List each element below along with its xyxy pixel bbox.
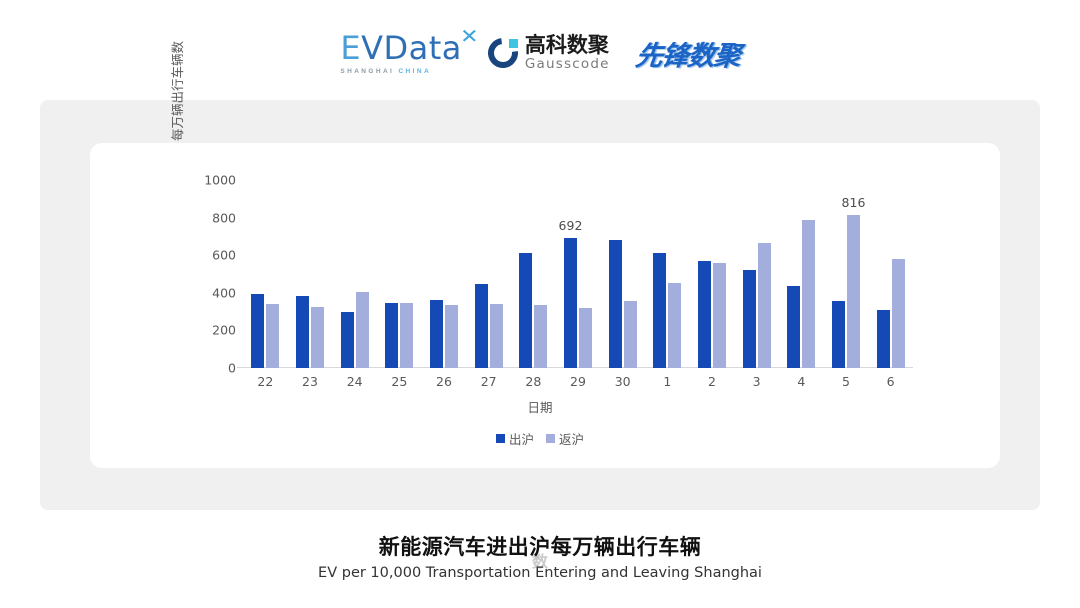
legend-label: 出沪 — [509, 429, 534, 448]
bar-出沪-24[interactable] — [341, 312, 354, 368]
y-axis-title: 每万辆出行车辆数 — [168, 0, 184, 183]
y-axis-ticks: 10008006004002000 — [190, 0, 236, 608]
bar-group — [288, 180, 333, 368]
x-axis-tick-label: 30 — [615, 374, 631, 389]
bar-出沪-2[interactable] — [698, 261, 711, 368]
bar-group — [377, 180, 422, 368]
x-axis-tick-label: 6 — [887, 374, 895, 389]
bar-返沪-26[interactable] — [445, 305, 458, 368]
bar-返沪-27[interactable] — [490, 304, 503, 368]
y-axis-tick-label: 1000 — [190, 173, 236, 188]
bar-group — [779, 180, 824, 368]
legend-swatch-icon — [546, 434, 555, 443]
x-axis-tick-label: 3 — [753, 374, 761, 389]
bar-出沪-3[interactable] — [743, 270, 756, 368]
caption-title-cn: 新能源汽车进出沪每万辆出行车辆 — [0, 531, 1080, 561]
bar-返沪-2[interactable] — [713, 263, 726, 368]
bar-group — [511, 180, 556, 368]
bar-出沪-1[interactable] — [653, 253, 666, 368]
y-axis-tick-label: 400 — [190, 285, 236, 300]
caption-subtitle-en: EV per 10,000 Transportation Entering an… — [0, 565, 1080, 581]
y-axis-tick-label: 600 — [190, 248, 236, 263]
bar-出沪-4[interactable] — [787, 286, 800, 368]
legend-swatch-icon — [496, 434, 505, 443]
bar-出沪-25[interactable] — [385, 303, 398, 368]
x-axis-tick-label: 23 — [302, 374, 318, 389]
x-axis-title: 日期 — [0, 397, 1080, 416]
x-axis-tick-label: 2 — [708, 374, 716, 389]
bar-返沪-23[interactable] — [311, 307, 324, 368]
bar-chart: 每万辆出行车辆数 10008006004002000 692816 日期 出沪返… — [0, 0, 1080, 608]
x-axis-tick-label: 22 — [257, 374, 273, 389]
bar-group — [645, 180, 690, 368]
legend-label: 返沪 — [559, 429, 584, 448]
bar-value-label: 816 — [842, 195, 866, 210]
bar-返沪-4[interactable] — [802, 220, 815, 368]
bar-group — [600, 180, 645, 368]
bar-返沪-25[interactable] — [400, 303, 413, 368]
bar-group — [690, 180, 735, 368]
bar-出沪-6[interactable] — [877, 310, 890, 368]
bar-出沪-26[interactable] — [430, 300, 443, 368]
legend-item-返沪[interactable]: 返沪 — [546, 429, 584, 448]
bar-group: 816 — [824, 180, 869, 368]
x-axis-tick-label: 27 — [481, 374, 497, 389]
x-axis-tick-label: 26 — [436, 374, 452, 389]
bar-返沪-24[interactable] — [356, 292, 369, 368]
x-axis-tick-label: 25 — [391, 374, 407, 389]
plot-area: 692816 — [243, 180, 913, 368]
bar-返沪-28[interactable] — [534, 305, 547, 368]
bar-group — [332, 180, 377, 368]
bar-返沪-30[interactable] — [624, 301, 637, 368]
bar-返沪-6[interactable] — [892, 259, 905, 368]
legend-item-出沪[interactable]: 出沪 — [496, 429, 534, 448]
x-axis-tick-label: 28 — [525, 374, 541, 389]
bar-group — [422, 180, 467, 368]
x-axis-tick-label: 29 — [570, 374, 586, 389]
chart-legend: 出沪返沪 — [0, 429, 1080, 448]
bar-出沪-30[interactable] — [609, 240, 622, 368]
bar-返沪-1[interactable] — [668, 283, 681, 368]
bar-group — [243, 180, 288, 368]
bar-value-label: 692 — [559, 218, 583, 233]
bar-出沪-22[interactable] — [251, 294, 264, 368]
x-axis-tick-label: 4 — [797, 374, 805, 389]
bar-出沪-23[interactable] — [296, 296, 309, 368]
bar-出沪-27[interactable] — [475, 284, 488, 368]
bar-返沪-29[interactable] — [579, 308, 592, 368]
y-axis-tick-label: 200 — [190, 323, 236, 338]
y-axis-tick-label: 800 — [190, 210, 236, 225]
y-axis-tick-label: 0 — [190, 361, 236, 376]
bar-返沪-5[interactable]: 816 — [847, 215, 860, 368]
bar-返沪-3[interactable] — [758, 243, 771, 368]
x-axis-tick-label: 5 — [842, 374, 850, 389]
bar-group — [466, 180, 511, 368]
x-axis-tick-label: 1 — [663, 374, 671, 389]
bar-出沪-28[interactable] — [519, 253, 532, 368]
bar-group — [734, 180, 779, 368]
bar-出沪-29[interactable]: 692 — [564, 238, 577, 368]
bar-group — [868, 180, 913, 368]
x-axis-tick-label: 24 — [347, 374, 363, 389]
bar-出沪-5[interactable] — [832, 301, 845, 368]
bar-返沪-22[interactable] — [266, 304, 279, 368]
bar-group: 692 — [556, 180, 601, 368]
